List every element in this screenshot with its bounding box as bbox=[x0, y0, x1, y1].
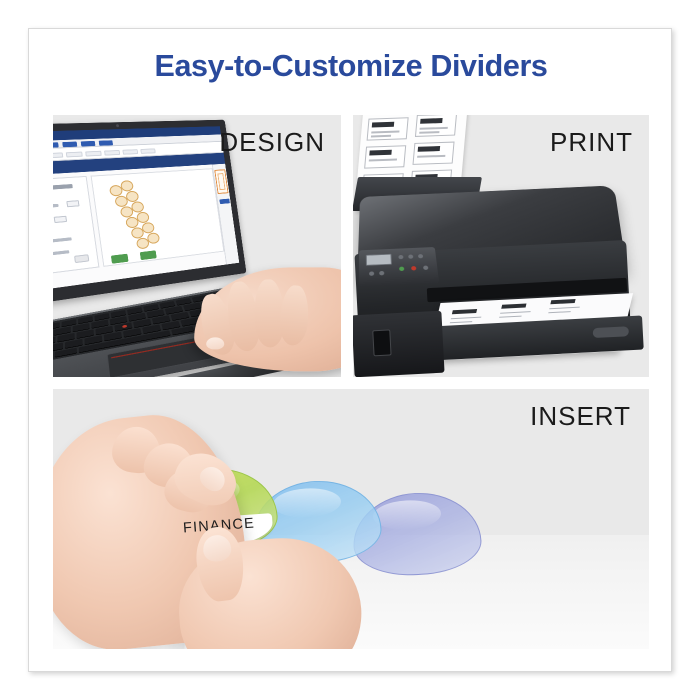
printer-lcd-display bbox=[366, 254, 392, 266]
scan-button[interactable] bbox=[379, 271, 384, 276]
app-workspace bbox=[53, 164, 239, 293]
laptop-lid bbox=[53, 120, 246, 308]
menu-button[interactable] bbox=[398, 255, 403, 259]
panel-print: PRINT bbox=[353, 115, 649, 377]
printer-control-panel[interactable] bbox=[359, 247, 439, 286]
printer-base-left bbox=[353, 311, 445, 377]
tray-grip[interactable] bbox=[593, 326, 629, 338]
webcam-icon bbox=[116, 124, 119, 127]
design-preview-pane bbox=[91, 168, 225, 267]
laptop-screen bbox=[53, 126, 239, 293]
panel-label-print: PRINT bbox=[550, 127, 633, 158]
power-button[interactable] bbox=[423, 266, 428, 270]
memory-card-slot[interactable] bbox=[372, 329, 391, 356]
copy-button[interactable] bbox=[369, 271, 374, 276]
ok-button[interactable] bbox=[408, 254, 413, 258]
divider-preview-thumb bbox=[214, 169, 228, 194]
stop-button[interactable] bbox=[411, 266, 416, 270]
product-card: Easy-to-Customize Dividers bbox=[28, 28, 672, 672]
back-button[interactable] bbox=[418, 254, 423, 258]
panel-label-insert: INSERT bbox=[530, 401, 631, 432]
panel-design: DESIGN bbox=[53, 115, 341, 377]
page-title: Easy-to-Customize Dividers bbox=[29, 49, 673, 84]
start-button[interactable] bbox=[399, 267, 404, 271]
panel-insert: FINANCE INSERT bbox=[53, 389, 649, 649]
panel-label-design: DESIGN bbox=[219, 127, 325, 158]
hand-on-keyboard bbox=[194, 267, 341, 371]
